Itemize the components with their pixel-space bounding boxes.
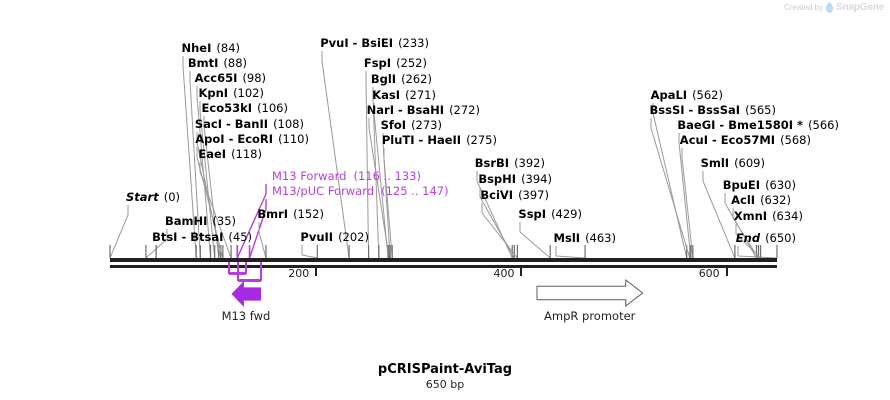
feature-arrow-shape — [537, 280, 643, 306]
primer-arrow — [231, 281, 261, 307]
ruler-label: 200 — [288, 267, 309, 280]
ruler-tick — [726, 268, 728, 276]
primer-bracket-stem — [228, 262, 230, 274]
primer-bracket-stem — [260, 262, 262, 281]
feature-label: AmpR promoter — [500, 309, 680, 323]
ruler-bar-lower — [110, 265, 777, 268]
primer-bracket-stem — [237, 262, 239, 281]
ruler-bar-upper — [110, 258, 777, 262]
sequence-map-canvas: Created by SnapGene Start(0)BamHI(35)Bts… — [0, 0, 890, 400]
feature-label: M13 fwd — [156, 309, 336, 323]
ruler-tick — [520, 268, 522, 276]
promoter-arrow — [536, 279, 644, 307]
ruler-label: 400 — [493, 267, 514, 280]
ruler-label: 600 — [699, 267, 720, 280]
ruler-tick — [315, 268, 317, 276]
plasmid-title: pCRISPaint-AviTag — [0, 362, 890, 377]
sequence-ruler — [0, 0, 890, 400]
plasmid-length: 650 bp — [0, 378, 890, 391]
primer-bracket-stem — [245, 262, 247, 274]
feature-arrow-shape — [232, 282, 261, 306]
